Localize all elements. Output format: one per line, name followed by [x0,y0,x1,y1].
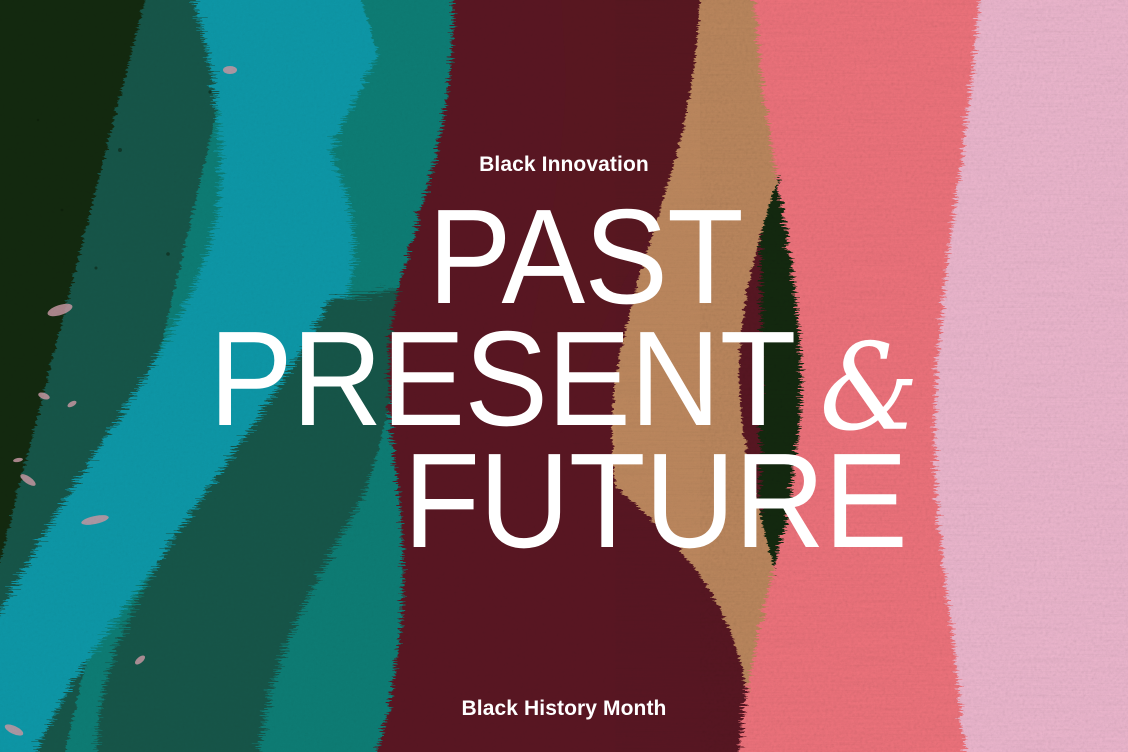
background-artwork [0,0,1128,752]
texture-vertical-streaks [640,0,1128,752]
texture-left-grain [0,0,700,752]
poster-canvas: Black Innovation PAST PRESENT& FUTURE Bl… [0,0,1128,752]
